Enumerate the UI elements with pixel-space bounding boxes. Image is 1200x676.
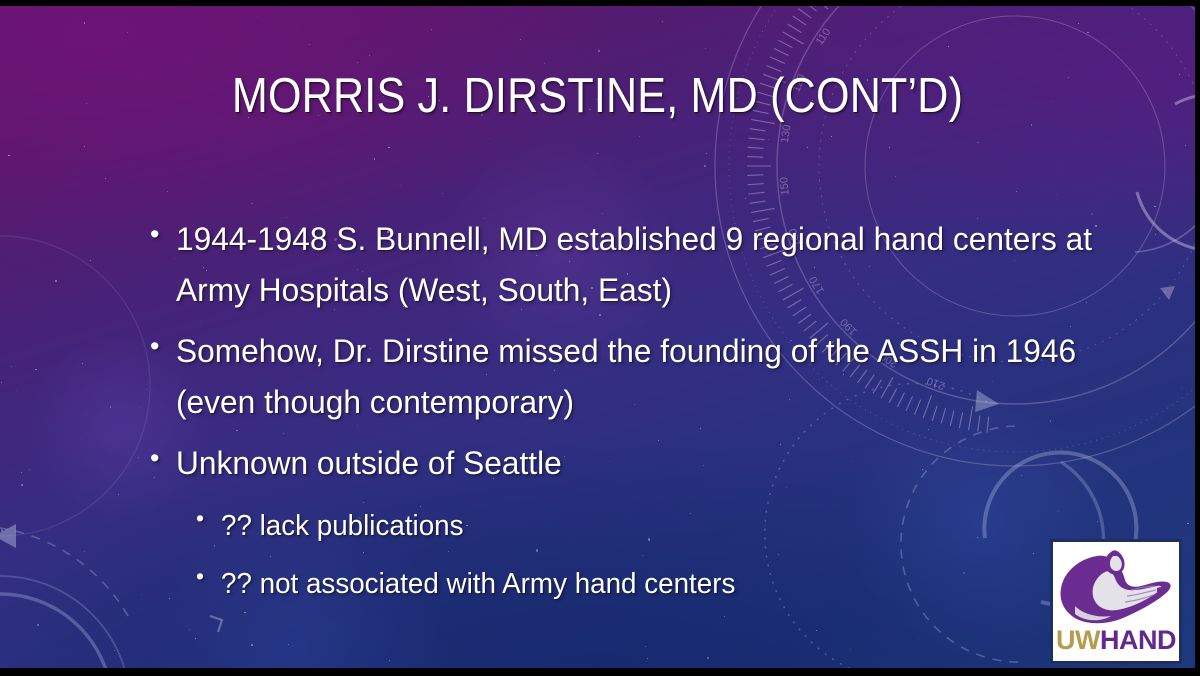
slide-root: 2102001901701601501301201101009080 [0,0,1200,676]
bullet-marker-icon: • [150,326,176,360]
letterbox-right [1195,0,1200,676]
sub-bullet-item: • ?? not associated with Army hand cente… [196,557,1140,611]
logo-wordmark: UWHAND [1053,627,1179,654]
letterbox-top [0,0,1200,6]
sub-bullet-text: ?? not associated with Army hand centers [221,557,1117,611]
bullet-marker-icon: • [196,499,221,530]
slide-body: • 1944-1948 S. Bunnell, MD established 9… [150,214,1140,615]
bullet-text: 1944-1948 S. Bunnell, MD established 9 r… [176,214,1116,316]
bullet-text: Unknown outside of Seattle [176,438,1116,489]
bullet-marker-icon: • [196,557,221,588]
sub-bullet-text: ?? lack publications [221,499,1117,553]
logo-word-uw: UW [1056,625,1100,655]
uw-hand-logo: UWHAND [1050,539,1182,664]
logo-word-hand: HAND [1100,625,1176,655]
letterbox-bottom [0,668,1200,676]
bullet-item: • 1944-1948 S. Bunnell, MD established 9… [150,214,1140,316]
husky-hand-icon [1053,544,1179,630]
bullet-marker-icon: • [150,214,176,248]
slide-title: MORRIS J. DIRSTINE, MD (CONT’D) [72,68,1124,124]
sub-bullet-item: • ?? lack publications [196,499,1140,553]
bullet-marker-icon: • [150,438,176,472]
bullet-item: • Unknown outside of Seattle [150,438,1140,489]
slide-canvas: 2102001901701601501301201101009080 [0,6,1195,668]
bullet-item: • Somehow, Dr. Dirstine missed the found… [150,326,1140,428]
bullet-text: Somehow, Dr. Dirstine missed the foundin… [176,326,1116,428]
